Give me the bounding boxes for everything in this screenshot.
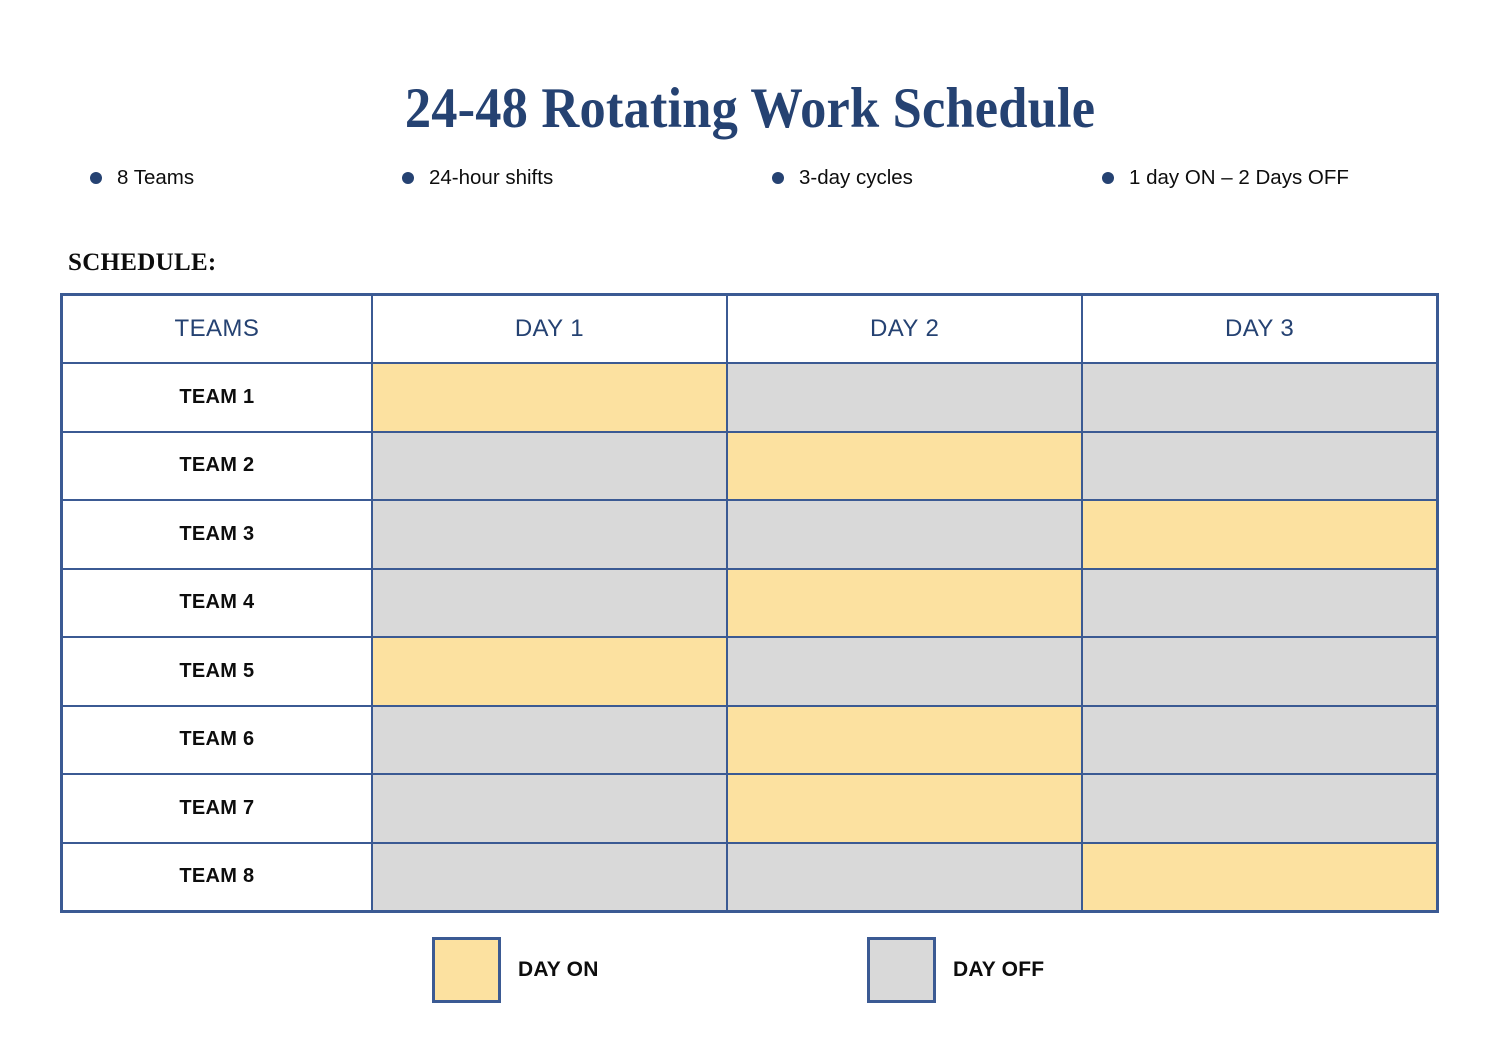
schedule-cell-day-3-off	[1082, 706, 1437, 775]
feature-label: 8 Teams	[117, 168, 194, 189]
legend-item-day-off: DAY OFF	[867, 937, 1044, 1003]
team-name-cell: TEAM 4	[62, 569, 372, 638]
table-row: TEAM 5	[62, 637, 1438, 706]
schedule-cell-day-1-on	[372, 637, 727, 706]
schedule-cell-day-1-on	[372, 363, 727, 432]
schedule-cell-day-2-off	[727, 637, 1082, 706]
page-title: 24-48 Rotating Work Schedule	[60, 76, 1440, 141]
schedule-cell-day-1-off	[372, 500, 727, 569]
schedule-cell-day-3-off	[1082, 637, 1437, 706]
bullet-dot-icon	[402, 172, 414, 184]
schedule-cell-day-1-off	[372, 432, 727, 501]
column-header-day-2: DAY 2	[727, 295, 1082, 364]
legend-swatch-day-off-icon	[867, 937, 936, 1003]
team-name-cell: TEAM 7	[62, 774, 372, 843]
schedule-cell-day-2-on	[727, 706, 1082, 775]
legend-label: DAY ON	[518, 958, 599, 982]
schedule-caption: SCHEDULE:	[68, 249, 217, 277]
schedule-table-container: TEAMS DAY 1 DAY 2 DAY 3 TEAM 1TEAM 2TEAM…	[60, 293, 1439, 913]
team-name-cell: TEAM 3	[62, 500, 372, 569]
table-header-row: TEAMS DAY 1 DAY 2 DAY 3	[62, 295, 1438, 364]
table-row: TEAM 1	[62, 363, 1438, 432]
legend: DAY ON DAY OFF	[432, 937, 1044, 1003]
bullet-dot-icon	[1102, 172, 1114, 184]
feature-label: 3-day cycles	[799, 168, 913, 189]
team-name-cell: TEAM 8	[62, 843, 372, 912]
bullet-dot-icon	[90, 172, 102, 184]
schedule-cell-day-3-off	[1082, 569, 1437, 638]
schedule-cell-day-3-on	[1082, 843, 1437, 912]
table-row: TEAM 3	[62, 500, 1438, 569]
schedule-cell-day-3-on	[1082, 500, 1437, 569]
schedule-cell-day-3-off	[1082, 774, 1437, 843]
schedule-cell-day-3-off	[1082, 432, 1437, 501]
table-row: TEAM 4	[62, 569, 1438, 638]
feature-bullet-list: 8 Teams 24-hour shifts 3-day cycles 1 da…	[90, 168, 1400, 189]
feature-item-shifts: 24-hour shifts	[402, 168, 772, 189]
schedule-cell-day-2-off	[727, 843, 1082, 912]
legend-swatch-day-on-icon	[432, 937, 501, 1003]
schedule-cell-day-1-off	[372, 706, 727, 775]
column-header-day-3: DAY 3	[1082, 295, 1437, 364]
schedule-cell-day-3-off	[1082, 363, 1437, 432]
table-row: TEAM 2	[62, 432, 1438, 501]
schedule-cell-day-1-off	[372, 774, 727, 843]
table-row: TEAM 6	[62, 706, 1438, 775]
schedule-cell-day-2-off	[727, 363, 1082, 432]
column-header-teams: TEAMS	[62, 295, 372, 364]
schedule-cell-day-1-off	[372, 569, 727, 638]
schedule-cell-day-2-on	[727, 774, 1082, 843]
schedule-cell-day-2-on	[727, 569, 1082, 638]
legend-label: DAY OFF	[953, 958, 1044, 982]
column-header-day-1: DAY 1	[372, 295, 727, 364]
schedule-cell-day-2-on	[727, 432, 1082, 501]
feature-item-on-off: 1 day ON – 2 Days OFF	[1102, 168, 1400, 189]
team-name-cell: TEAM 2	[62, 432, 372, 501]
schedule-cell-day-2-off	[727, 500, 1082, 569]
team-name-cell: TEAM 5	[62, 637, 372, 706]
table-row: TEAM 7	[62, 774, 1438, 843]
legend-item-day-on: DAY ON	[432, 937, 867, 1003]
feature-item-cycles: 3-day cycles	[772, 168, 1102, 189]
team-name-cell: TEAM 6	[62, 706, 372, 775]
schedule-table: TEAMS DAY 1 DAY 2 DAY 3 TEAM 1TEAM 2TEAM…	[60, 293, 1439, 913]
feature-label: 24-hour shifts	[429, 168, 553, 189]
schedule-table-body: TEAM 1TEAM 2TEAM 3TEAM 4TEAM 5TEAM 6TEAM…	[62, 363, 1438, 912]
team-name-cell: TEAM 1	[62, 363, 372, 432]
feature-item-teams: 8 Teams	[90, 168, 402, 189]
feature-label: 1 day ON – 2 Days OFF	[1129, 168, 1349, 189]
schedule-cell-day-1-off	[372, 843, 727, 912]
table-row: TEAM 8	[62, 843, 1438, 912]
bullet-dot-icon	[772, 172, 784, 184]
